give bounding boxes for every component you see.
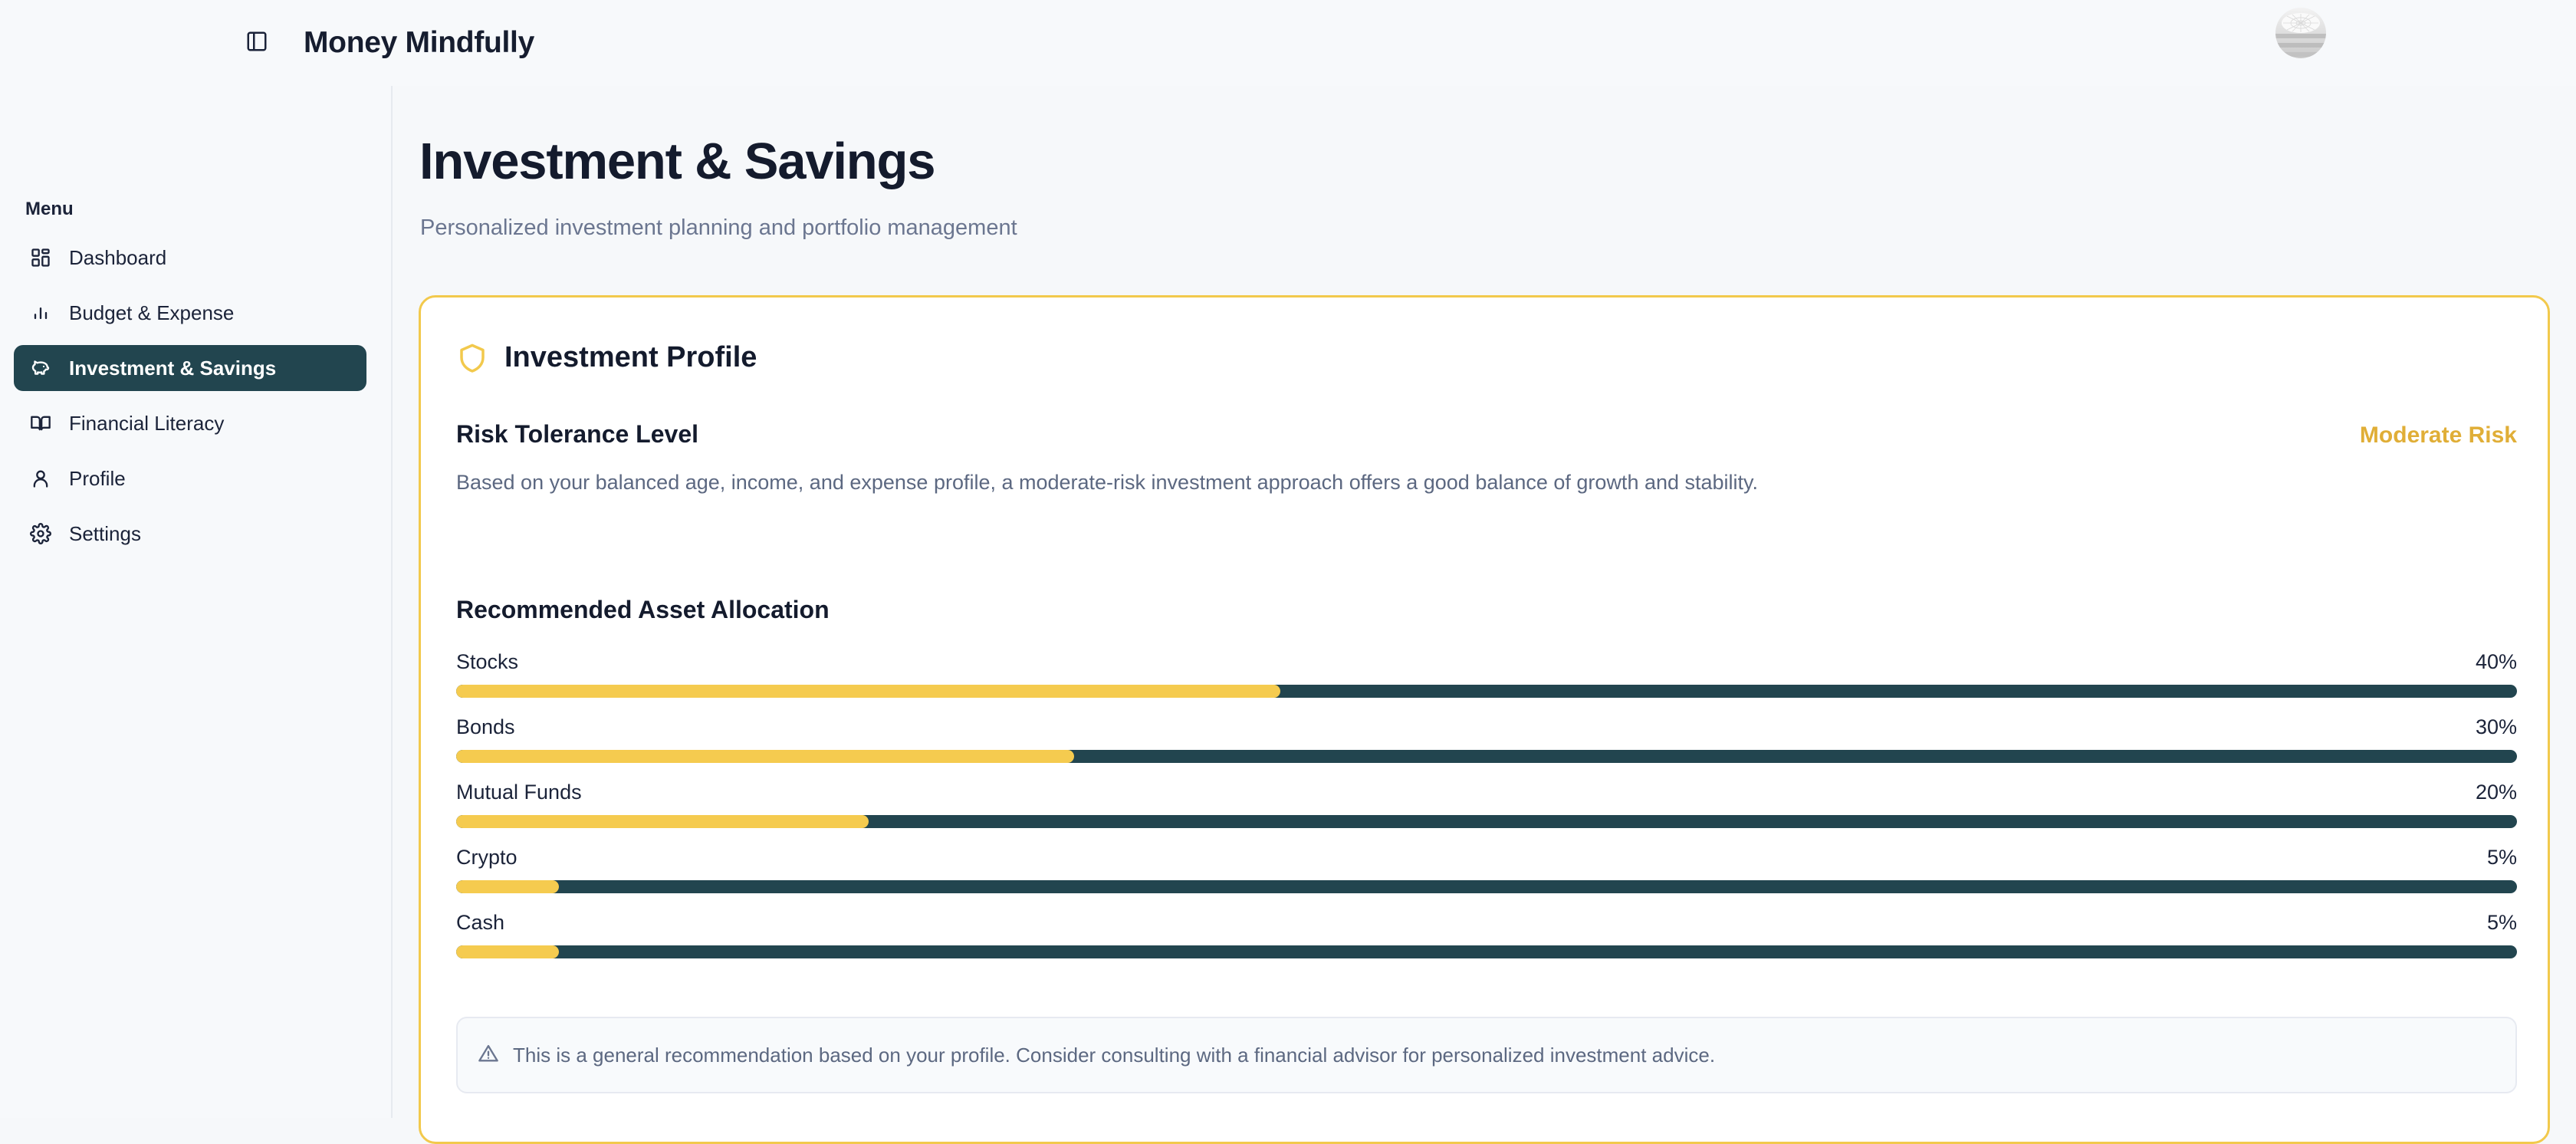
risk-level-badge: Moderate Risk [2360,422,2517,449]
avatar[interactable] [2275,8,2326,58]
allocation-label: Bonds [456,715,515,739]
sidebar-item-financial-literacy[interactable]: Financial Literacy [14,400,366,446]
sidebar-item-label: Budget & Expense [69,301,234,325]
allocation-bar-fill [456,685,1280,698]
card-header: Investment Profile [456,341,757,374]
allocation-value: 30% [2476,715,2517,739]
risk-description: Based on your balanced age, income, and … [456,471,1758,495]
allocation-bar-fill [456,815,869,828]
sidebar-nav: Dashboard Budget & Expense Investment & … [0,235,393,566]
sidebar-item-label: Profile [69,467,126,491]
allocation-label: Mutual Funds [456,781,582,804]
allocation-row: Mutual Funds 20% [456,781,2517,828]
sidebar-item-label: Financial Literacy [69,412,224,436]
allocation-title: Recommended Asset Allocation [456,596,830,624]
allocation-value: 5% [2487,846,2517,870]
user-avatar-image [2275,8,2326,58]
sidebar-item-investment-savings[interactable]: Investment & Savings [14,345,366,391]
sidebar-item-label: Settings [69,522,141,546]
card-title: Investment Profile [504,341,757,374]
allocation-label: Stocks [456,650,518,674]
allocation-bar-fill [456,750,1074,763]
app-title: Money Mindfully [304,26,534,60]
risk-tolerance-title: Risk Tolerance Level [456,420,698,449]
allocation-bar-track [456,750,2517,763]
investment-profile-card: Investment Profile Risk Tolerance Level … [419,295,2550,1144]
risk-tolerance-row: Risk Tolerance Level Moderate Risk [456,420,2517,449]
allocation-label: Cash [456,911,504,935]
allocation-value: 5% [2487,911,2517,935]
page-title: Investment & Savings [419,132,935,191]
allocation-bar-track [456,880,2517,893]
allocation-bar-track [456,685,2517,698]
main-content: Investment & Savings Personalized invest… [394,86,2576,1118]
warning-triangle-icon [478,1043,499,1068]
allocation-row: Bonds 30% [456,715,2517,763]
disclaimer-text: This is a general recommendation based o… [513,1044,1715,1067]
sidebar-menu-label: Menu [25,199,74,220]
allocation-bar-fill [456,880,559,893]
allocation-label: Crypto [456,846,517,870]
allocation-value: 40% [2476,650,2517,674]
user-icon [28,465,54,491]
allocation-row: Stocks 40% [456,650,2517,698]
sidebar-item-profile[interactable]: Profile [14,455,366,501]
sidebar-item-settings[interactable]: Settings [14,511,366,557]
allocation-bar-track [456,815,2517,828]
sidebar: Menu Dashboard Budget & Expense [0,86,393,1118]
sidebar-item-budget-expense[interactable]: Budget & Expense [14,290,366,336]
gear-icon [28,521,54,547]
bar-chart-icon [28,300,54,326]
allocation-bar-fill [456,945,559,958]
sidebar-item-label: Investment & Savings [69,357,276,380]
top-bar: Money Mindfully [0,0,2576,86]
allocation-list: Stocks 40% Bonds 30% Mutual Funds [456,650,2517,976]
panel-left-icon [245,30,268,57]
grid-icon [28,245,54,271]
sidebar-item-dashboard[interactable]: Dashboard [14,235,366,281]
disclaimer-note: This is a general recommendation based o… [456,1017,2517,1093]
book-open-icon [28,410,54,436]
page-subtitle: Personalized investment planning and por… [420,215,1017,241]
allocation-value: 20% [2476,781,2517,804]
allocation-row: Crypto 5% [456,846,2517,893]
piggy-bank-icon [28,355,54,381]
sidebar-toggle-button[interactable] [238,24,276,62]
shield-icon [456,342,488,374]
allocation-bar-track [456,945,2517,958]
allocation-row: Cash 5% [456,911,2517,958]
sidebar-item-label: Dashboard [69,246,166,270]
